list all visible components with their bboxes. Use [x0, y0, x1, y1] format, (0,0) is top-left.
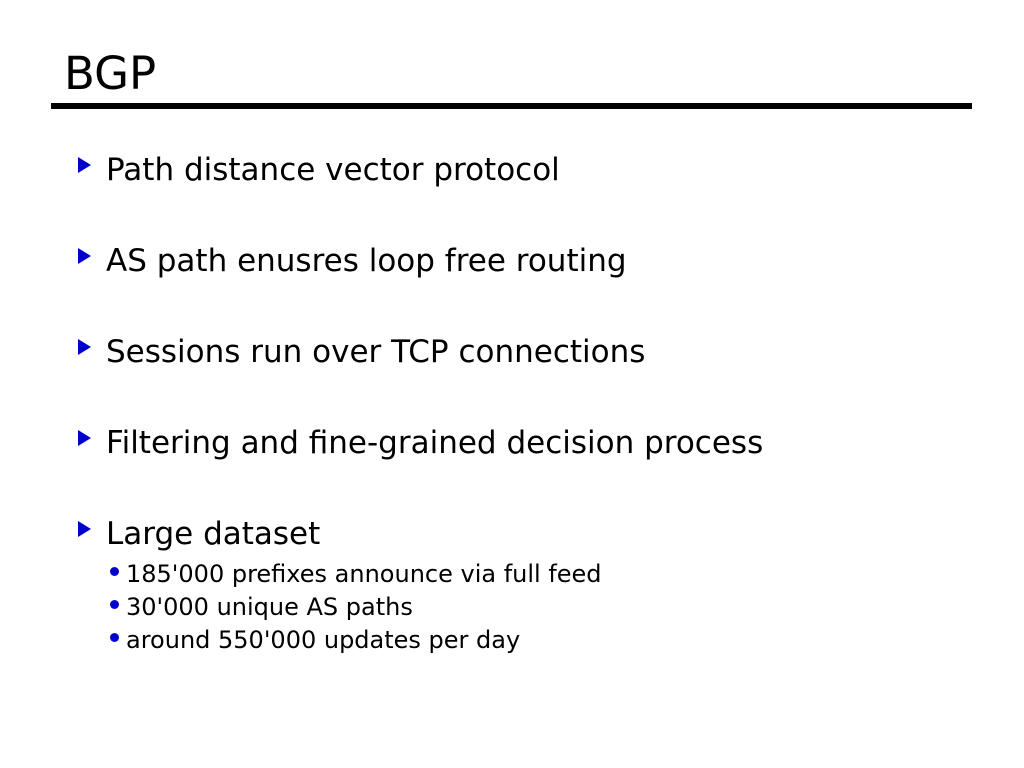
- bullet-text: around 550'000 updates per day: [126, 625, 520, 655]
- bullet-item: Filtering and fine-grained decision proc…: [78, 424, 763, 462]
- bullet-item: Path distance vector protocol: [78, 151, 560, 189]
- bullet-item: 185'000 prefixes announce via full feed: [110, 559, 602, 589]
- bullet-text: Filtering and fine-grained decision proc…: [106, 424, 763, 462]
- dot-glyph: [110, 600, 119, 609]
- presentation-slide: BGP Path distance vector protocolAS path…: [0, 0, 1024, 768]
- bullet-text: AS path enusres loop free routing: [106, 242, 627, 280]
- bullet-text: 30'000 unique AS paths: [126, 592, 413, 622]
- triangle-glyph: [78, 157, 91, 173]
- bullet-text: 185'000 prefixes announce via full feed: [126, 559, 602, 589]
- dot-glyph: [110, 633, 119, 642]
- dot-glyph: [110, 567, 119, 576]
- triangle-glyph: [78, 339, 91, 355]
- bullet-item: 30'000 unique AS paths: [110, 592, 413, 622]
- bullet-item: Sessions run over TCP connections: [78, 333, 645, 371]
- triangle-glyph: [78, 521, 91, 537]
- bullet-text: Large dataset: [106, 515, 320, 553]
- triangle-glyph: [78, 430, 91, 446]
- bullet-item: around 550'000 updates per day: [110, 625, 520, 655]
- triangle-glyph: [78, 248, 91, 264]
- title-divider-rule: [51, 103, 972, 109]
- bullet-text: Path distance vector protocol: [106, 151, 560, 189]
- page-title: BGP: [64, 48, 156, 100]
- bullet-text: Sessions run over TCP connections: [106, 333, 645, 371]
- bullet-item: Large dataset: [78, 515, 320, 553]
- bullet-item: AS path enusres loop free routing: [78, 242, 627, 280]
